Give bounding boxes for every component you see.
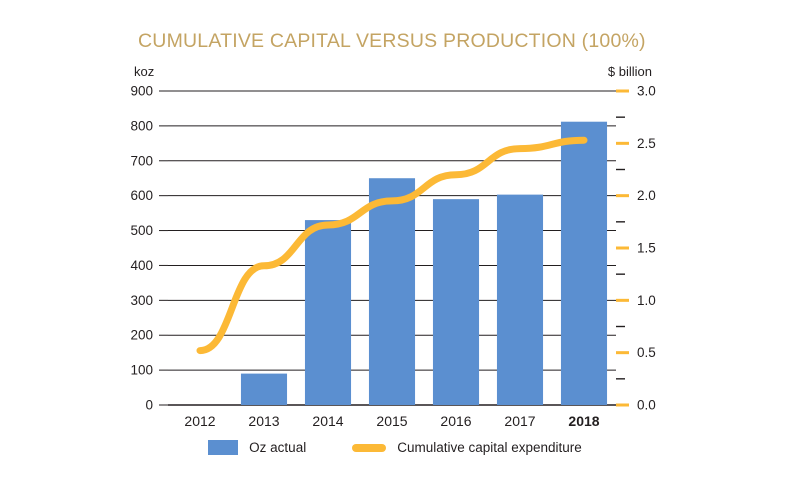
chart-legend: Oz actual Cumulative capital expenditure bbox=[0, 440, 790, 455]
y-tick-label-right: 1.5 bbox=[637, 241, 656, 256]
x-tick-label: 2017 bbox=[504, 413, 535, 429]
bar bbox=[241, 374, 287, 405]
legend-item-cumulative-capital-expenditure: Cumulative capital expenditure bbox=[352, 440, 582, 455]
y-tick-label-left: 700 bbox=[130, 153, 153, 168]
y-tick-label-left: 800 bbox=[130, 118, 153, 133]
bar-series bbox=[241, 122, 607, 405]
chart-card: CUMULATIVE CAPITAL VERSUS PRODUCTION (10… bbox=[0, 0, 790, 500]
x-tick-label: 2014 bbox=[312, 413, 343, 429]
bar bbox=[433, 199, 479, 405]
x-tick-label: 2013 bbox=[248, 413, 279, 429]
y-tick-label-left: 500 bbox=[130, 223, 153, 238]
y-tick-label-left: 100 bbox=[130, 363, 153, 378]
y-axis-left-ticks: 9008007006005004003002001000 bbox=[130, 84, 168, 413]
y-tick-label-right: 3.0 bbox=[637, 84, 656, 99]
y-tick-label-left: 400 bbox=[130, 258, 153, 273]
y-tick-label-left: 300 bbox=[130, 293, 153, 308]
legend-label-oz-actual: Oz actual bbox=[249, 440, 306, 455]
y-tick-label-left: 600 bbox=[130, 188, 153, 203]
bar bbox=[561, 122, 607, 405]
x-tick-label: 2012 bbox=[184, 413, 215, 429]
y-tick-label-right: 1.0 bbox=[637, 293, 656, 308]
y-tick-label-left: 200 bbox=[130, 328, 153, 343]
legend-bar-swatch-icon bbox=[208, 440, 238, 455]
x-tick-label: 2016 bbox=[440, 413, 471, 429]
y-tick-label-left: 0 bbox=[145, 398, 153, 413]
x-tick-label: 2015 bbox=[376, 413, 407, 429]
y-tick-label-right: 0.0 bbox=[637, 398, 656, 413]
bar bbox=[369, 178, 415, 405]
bar bbox=[305, 220, 351, 405]
bar bbox=[497, 195, 543, 405]
x-tick-label: 2018 bbox=[568, 413, 599, 429]
y-tick-label-right: 0.5 bbox=[637, 345, 656, 360]
x-axis-labels: 2012201320142015201620172018 bbox=[184, 413, 599, 429]
y-tick-label-right: 2.0 bbox=[637, 188, 656, 203]
chart-plot-svg: 9008007006005004003002001000 3.02.52.01.… bbox=[0, 0, 790, 500]
legend-line-swatch-icon bbox=[352, 444, 386, 452]
y-tick-label-left: 900 bbox=[130, 84, 153, 99]
y-axis-right-ticks: 3.02.52.01.51.00.50.0 bbox=[616, 84, 656, 413]
plot-area: 9008007006005004003002001000 3.02.52.01.… bbox=[0, 0, 790, 500]
y-tick-label-right: 2.5 bbox=[637, 136, 656, 151]
legend-label-cumulative-capital-expenditure: Cumulative capital expenditure bbox=[397, 440, 582, 455]
legend-item-oz-actual: Oz actual bbox=[208, 440, 306, 455]
